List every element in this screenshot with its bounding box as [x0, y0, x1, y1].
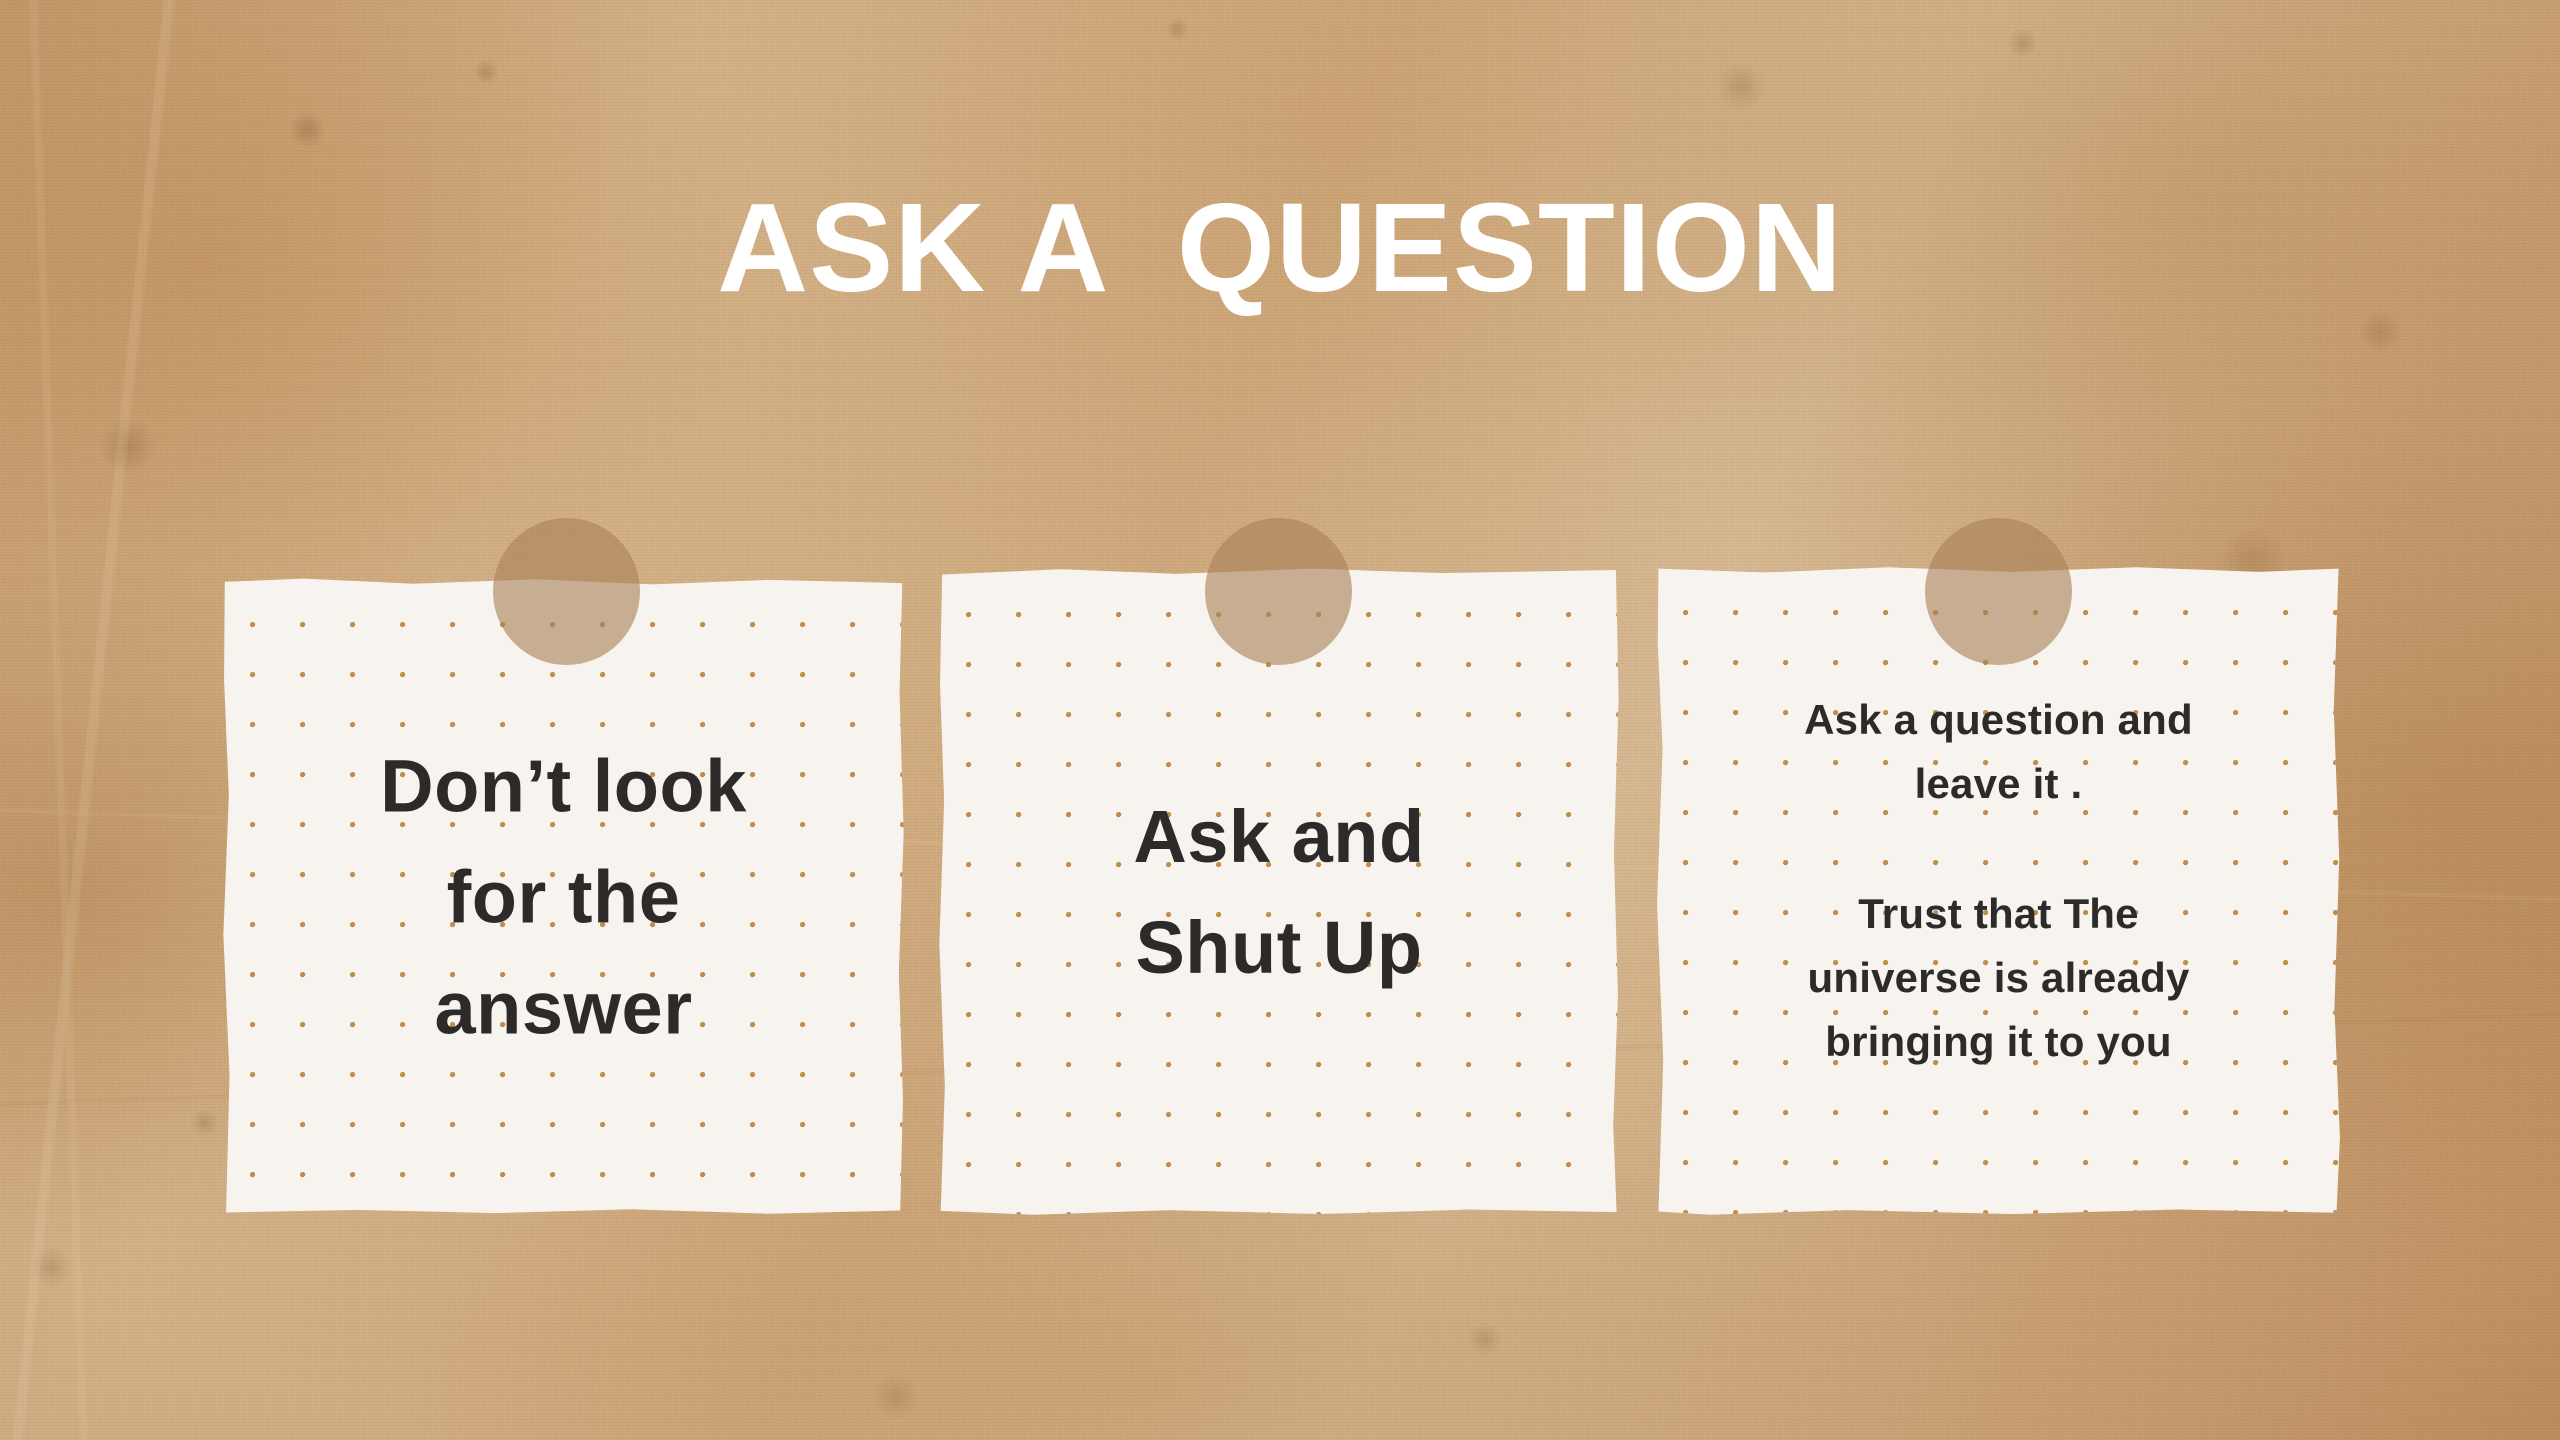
circle-pin-3 [1925, 518, 2072, 665]
note-card-2[interactable]: Ask and Shut Up [938, 568, 1620, 1216]
note-card-3-text-line2: Trust that The universe is already bring… [1655, 882, 2342, 1073]
note-card-2-text: Ask and Shut Up [938, 781, 1620, 1003]
page-title: ASK A QUESTION [0, 185, 2560, 311]
note-card-3-text-line1: Ask a question and leave it . [1655, 688, 2342, 816]
circle-pin-2 [1205, 518, 1352, 665]
slide-canvas: ASK A QUESTION Don’t look for the answer… [0, 0, 2560, 1440]
note-card-1[interactable]: Don’t look for the answer [222, 578, 905, 1215]
circle-pin-1 [493, 518, 640, 665]
note-card-1-text: Don’t look for the answer [222, 730, 905, 1063]
